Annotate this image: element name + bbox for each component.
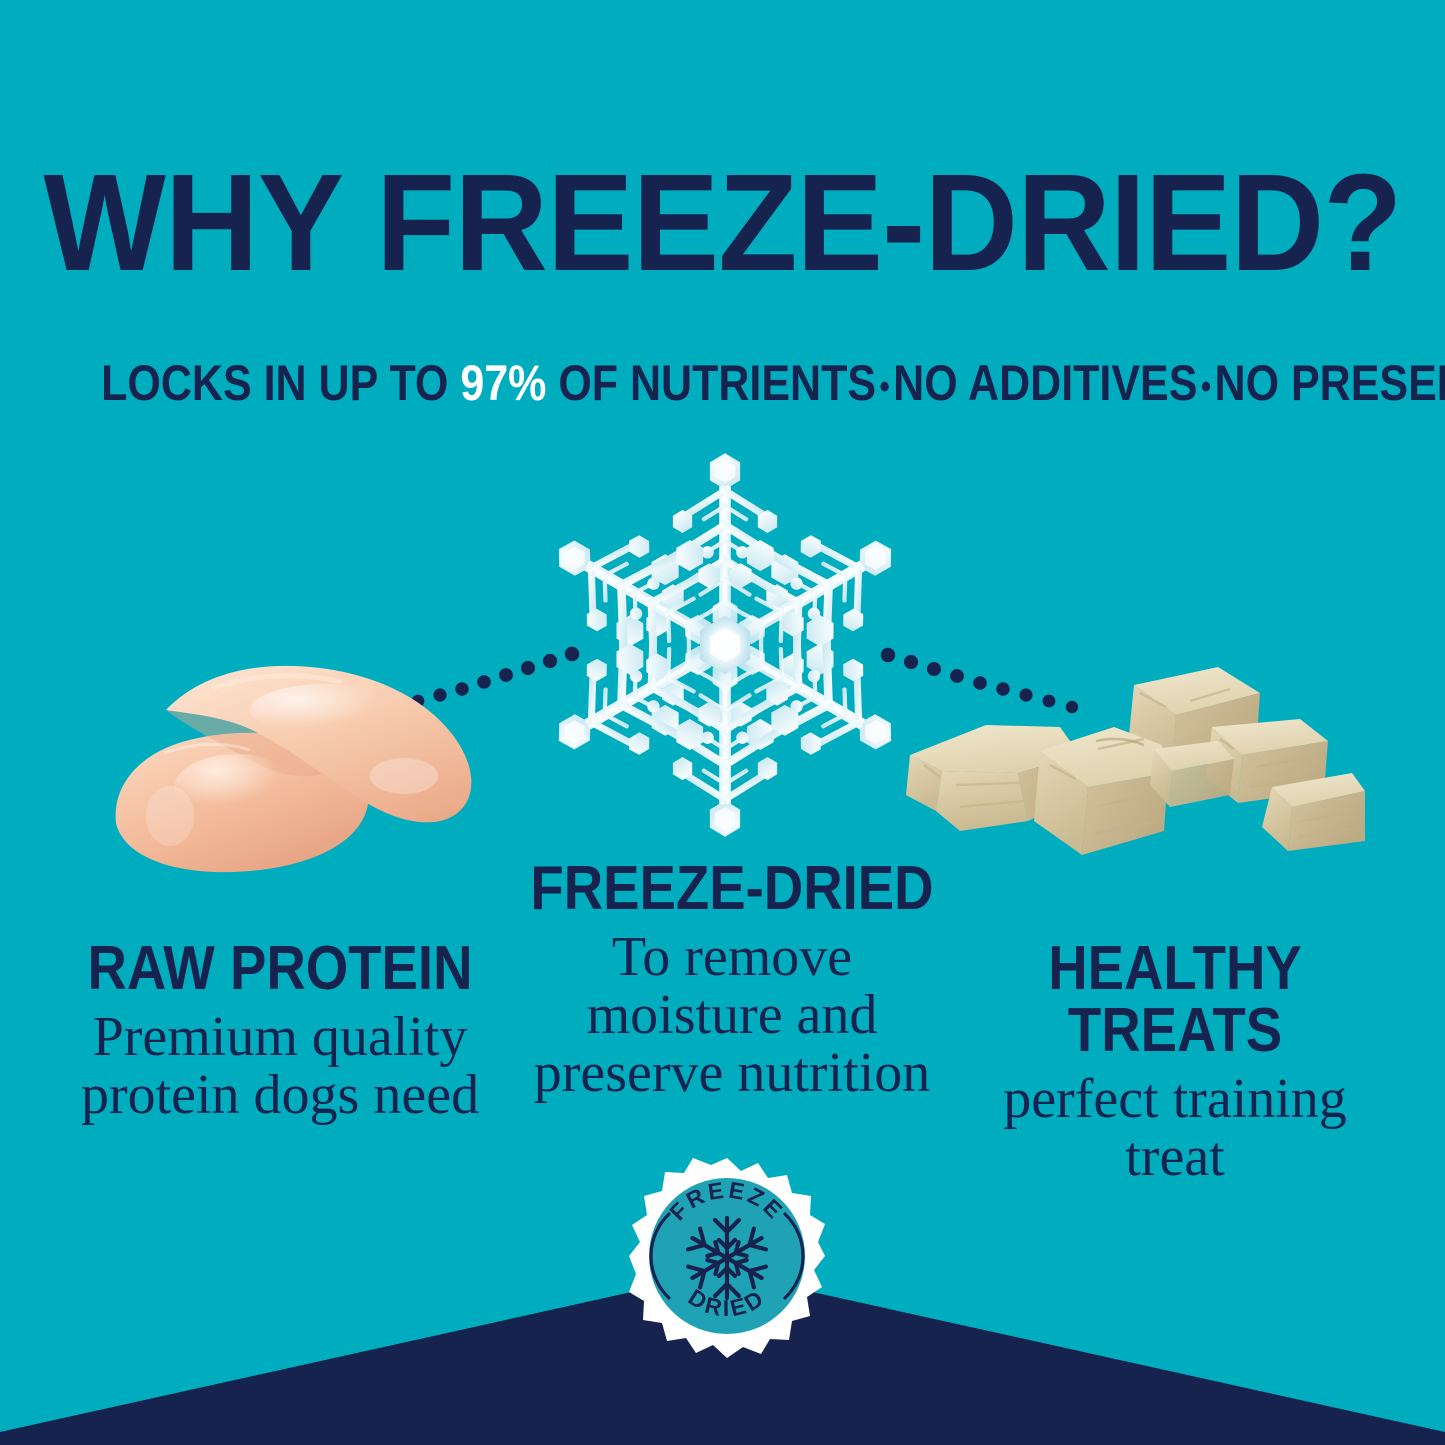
- body-line: protein dogs need: [20, 1066, 540, 1124]
- freeze-dried-treats-image: [900, 645, 1365, 875]
- column-raw-protein: RAW PROTEIN Premium quality protein dogs…: [20, 938, 540, 1124]
- page-subtitle: LOCKS IN UP TO 97% OF NUTRIENTS•NO ADDIT…: [101, 358, 1344, 408]
- column-heading-healthy-treats: HEALTHY TREATS: [959, 938, 1390, 1062]
- subtitle-text-1: LOCKS IN UP TO: [101, 355, 460, 411]
- subtitle-percent: 97%: [460, 355, 546, 411]
- column-body-raw-protein: Premium quality protein dogs need: [20, 1008, 540, 1124]
- infographic-canvas: WHY FREEZE-DRIED? LOCKS IN UP TO 97% OF …: [0, 0, 1445, 1445]
- bullet-separator-2: •: [1197, 368, 1214, 406]
- snowflake-crystal-image: [532, 452, 918, 838]
- bullet-separator-1: •: [876, 368, 893, 406]
- body-line: moisture and: [482, 986, 982, 1044]
- page-title: WHY FREEZE-DRIED?: [43, 154, 1401, 292]
- column-heading-freeze-dried: FREEZE-DRIED: [512, 858, 952, 920]
- subtitle-text-2: OF NUTRIENTS: [546, 355, 876, 411]
- freeze-dried-badge: FREEZE DRIED: [629, 1158, 825, 1370]
- body-line: To remove: [482, 928, 982, 986]
- body-line: perfect training: [930, 1070, 1420, 1128]
- column-heading-raw-protein: RAW PROTEIN: [51, 938, 509, 1000]
- column-body-freeze-dried: To remove moisture and preserve nutritio…: [482, 928, 982, 1103]
- raw-chicken-image: [104, 648, 504, 878]
- body-line: Premium quality: [20, 1008, 540, 1066]
- column-body-healthy-treats: perfect training treat: [930, 1070, 1420, 1186]
- subtitle-text-3: NO ADDITIVES: [893, 355, 1197, 411]
- body-line: preserve nutrition: [482, 1044, 982, 1102]
- body-line: treat: [930, 1128, 1420, 1186]
- subtitle-text-4: NO PRESERVATIVES: [1215, 355, 1445, 411]
- treat-cube: [1150, 741, 1234, 807]
- column-freeze-dried: FREEZE-DRIED To remove moisture and pres…: [482, 858, 982, 1103]
- column-healthy-treats: HEALTHY TREATS perfect training treat: [930, 938, 1420, 1186]
